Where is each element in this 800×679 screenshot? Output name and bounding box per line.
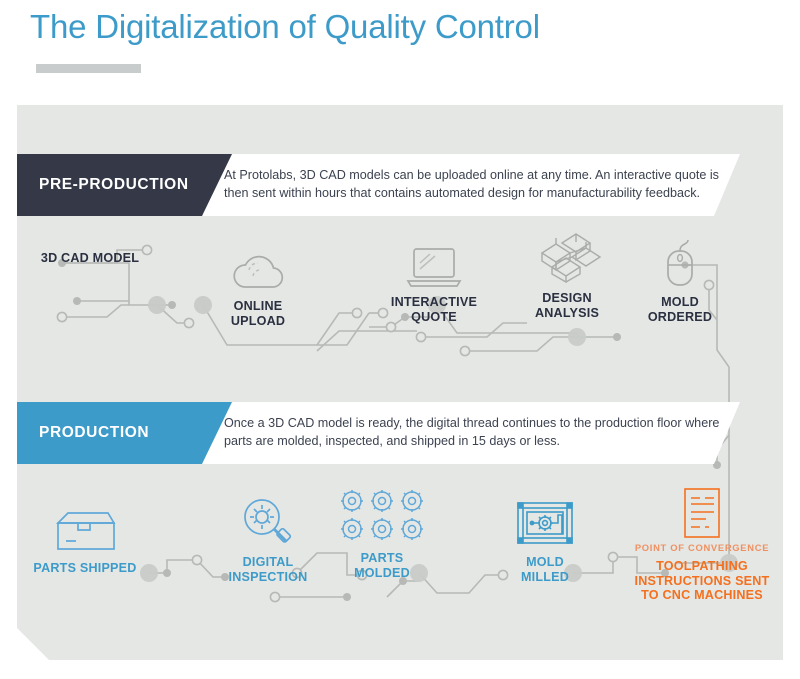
banner-description: At Protolabs, 3D CAD models can be uploa… <box>224 167 724 202</box>
step-label: 3D CAD MODEL <box>15 251 165 266</box>
step-digital-inspection[interactable]: DIGITAL INSPECTION <box>203 487 333 584</box>
gears-grid-icon <box>317 483 447 545</box>
step-label: INTERACTIVE QUOTE <box>369 295 499 324</box>
banner-tag-production: PRODUCTION <box>17 402 232 464</box>
infographic-panel: PRE-PRODUCTION At Protolabs, 3D CAD mode… <box>17 105 783 660</box>
laptop-icon <box>369 227 499 289</box>
step-label: PARTS MOLDED <box>317 551 447 580</box>
step-label: MOLD MILLED <box>485 555 605 584</box>
computer-mouse-icon <box>625 227 735 289</box>
document-lines-icon <box>622 480 782 542</box>
step-label: MOLD ORDERED <box>625 295 735 324</box>
magnifier-gear-icon <box>203 487 333 549</box>
step-mold-milled[interactable]: MOLD MILLED <box>485 487 605 584</box>
step-toolpathing-convergence[interactable]: POINT OF CONVERGENCE TOOLPATHING INSTRUC… <box>622 480 782 603</box>
step-label: TOOLPATHING INSTRUCTIONS SENT TO CNC MAC… <box>622 559 782 603</box>
step-parts-shipped[interactable]: PARTS SHIPPED <box>15 493 155 576</box>
title-rule <box>36 64 141 73</box>
shipping-box-icon <box>15 493 155 555</box>
banner-description: Once a 3D CAD model is ready, the digita… <box>224 415 724 450</box>
mold-plate-icon <box>485 487 605 549</box>
lattice-mesh-icon <box>507 223 627 285</box>
banner-tag-preproduction: PRE-PRODUCTION <box>17 154 232 216</box>
banner-tag-label: PRODUCTION <box>17 424 149 442</box>
step-mold-ordered[interactable]: MOLD ORDERED <box>625 227 735 324</box>
cloud-upload-icon <box>203 231 313 293</box>
step-label: ONLINE UPLOAD <box>203 299 313 328</box>
step-label: PARTS SHIPPED <box>15 561 155 576</box>
step-3d-cad-model[interactable]: 3D CAD MODEL <box>15 245 165 266</box>
step-online-upload[interactable]: ONLINE UPLOAD <box>203 231 313 328</box>
step-interactive-quote[interactable]: INTERACTIVE QUOTE <box>369 227 499 324</box>
step-label: DIGITAL INSPECTION <box>203 555 333 584</box>
step-design-analysis[interactable]: DESIGN ANALYSIS <box>507 223 627 320</box>
step-parts-molded[interactable]: PARTS MOLDED <box>317 483 447 580</box>
page-title: The Digitalization of Quality Control <box>30 8 540 46</box>
step-label: DESIGN ANALYSIS <box>507 291 627 320</box>
convergence-kicker: POINT OF CONVERGENCE <box>622 542 782 553</box>
banner-tag-label: PRE-PRODUCTION <box>17 176 189 194</box>
